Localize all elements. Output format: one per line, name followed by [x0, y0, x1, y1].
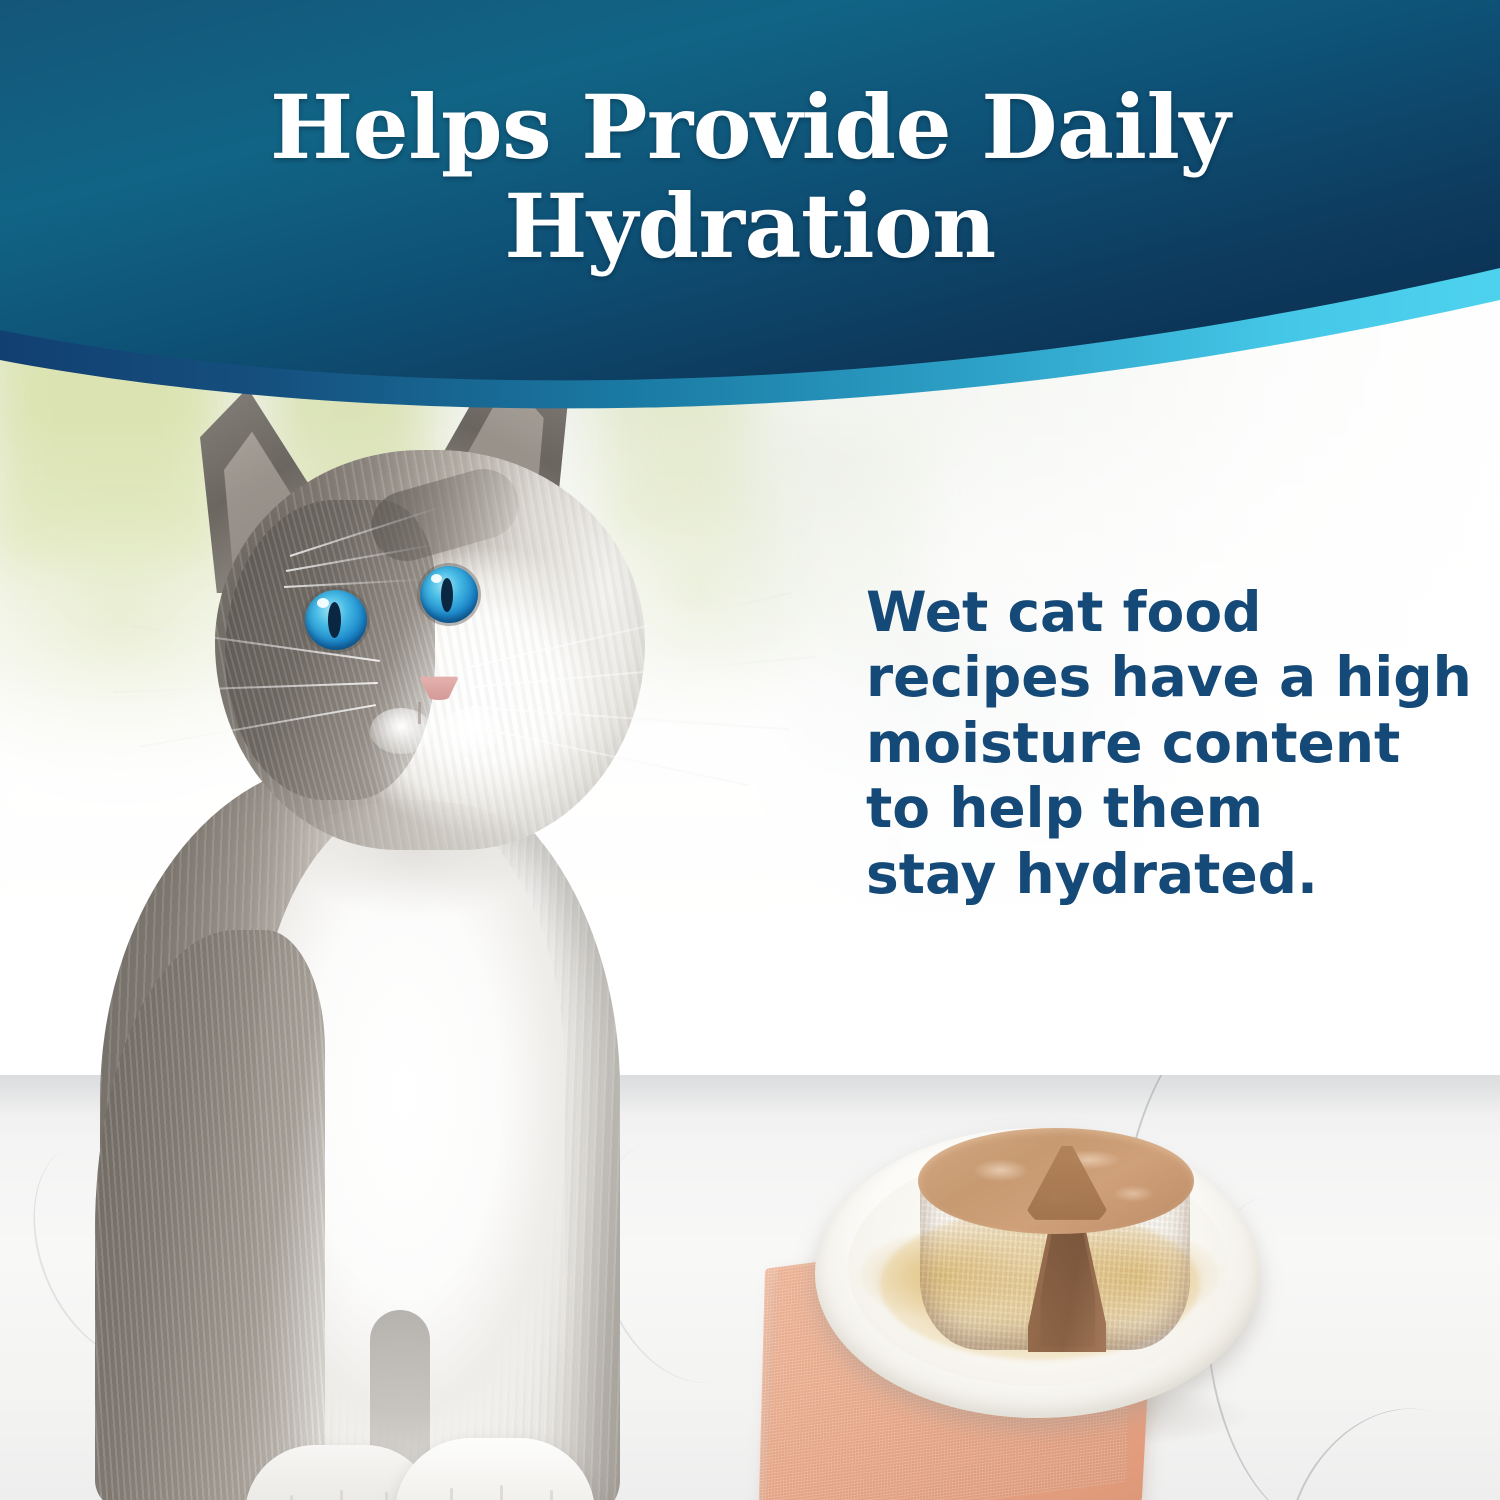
kitten-toe-line	[500, 1485, 503, 1500]
kitten-toe-line	[550, 1490, 553, 1500]
body-line-3: moisture content	[866, 711, 1476, 776]
kitten-muzzle-left	[370, 708, 432, 754]
kitten-mouth	[418, 702, 421, 724]
kitten-neck-shading	[290, 800, 540, 920]
marketing-poster: Helps Provide Daily Hydration Wet cat fo…	[0, 0, 1500, 1500]
body-paragraph: Wet cat food recipes have a high moistur…	[866, 580, 1476, 907]
kitten-toe-line	[385, 1492, 388, 1500]
page-title: Helps Provide Daily Hydration	[0, 78, 1500, 275]
body-line-4: to help them	[866, 776, 1476, 841]
kitten-pupil-left	[328, 602, 341, 638]
body-line-1: Wet cat food	[866, 580, 1476, 645]
wet-food-plate-photo	[760, 1080, 1400, 1500]
body-line-5: stay hydrated.	[866, 842, 1476, 907]
kitten-eye-glint-right	[431, 574, 442, 583]
kitten-toe-line	[450, 1488, 453, 1500]
headline-line-2: Hydration	[0, 177, 1500, 276]
body-line-2: recipes have a high	[866, 645, 1476, 710]
kitten-toe-line	[290, 1495, 293, 1500]
kitten-toe-line	[340, 1490, 343, 1500]
kitten-photo	[40, 330, 800, 1500]
kitten-pupil-right	[441, 578, 453, 612]
headline-line-1: Helps Provide Daily	[0, 78, 1500, 177]
kitten-eye-glint-left	[317, 598, 329, 608]
